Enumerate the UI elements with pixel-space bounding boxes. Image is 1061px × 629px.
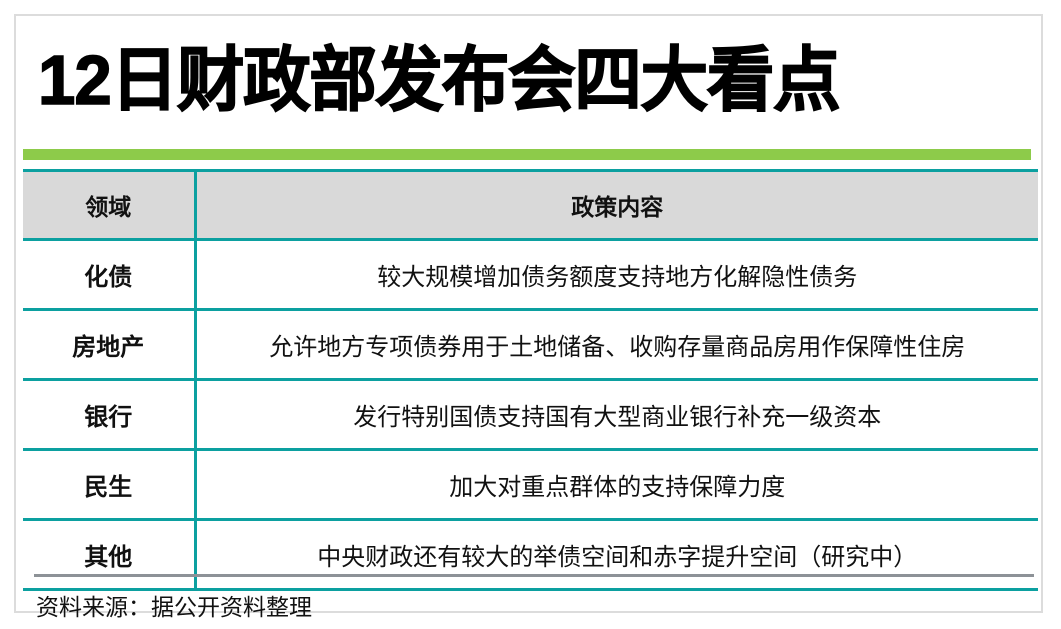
table-row: 银行 发行特别国债支持国有大型商业银行补充一级资本 [23,380,1038,450]
row-field-label: 银行 [23,380,195,450]
row-content-text: 中央财政还有较大的举债空间和赤字提升空间（研究中） [195,520,1038,590]
row-field-label: 民生 [23,450,195,520]
title-area: 12日财政部发布会四大看点 [16,16,1041,143]
page-title: 12日财政部发布会四大看点 [38,45,839,115]
policy-table: 领域 政策内容 化债 较大规模增加债务额度支持地方化解隐性债务 房地产 允许地方… [23,169,1038,591]
column-header-field: 领域 [23,171,195,240]
table-row: 民生 加大对重点群体的支持保障力度 [23,450,1038,520]
table-header-row: 领域 政策内容 [23,171,1038,240]
row-content-text: 允许地方专项债券用于土地储备、收购存量商品房用作保障性住房 [195,310,1038,380]
source-note: 资料来源：据公开资料整理 [36,588,312,622]
row-field-label: 化债 [23,240,195,310]
row-content-text: 发行特别国债支持国有大型商业银行补充一级资本 [195,380,1038,450]
row-content-text: 加大对重点群体的支持保障力度 [195,450,1038,520]
column-header-content: 政策内容 [195,171,1038,240]
footer-divider [34,574,1034,577]
table-row: 化债 较大规模增加债务额度支持地方化解隐性债务 [23,240,1038,310]
table-header: 领域 政策内容 [23,171,1038,240]
green-accent-bar [23,149,1031,160]
table-row: 房地产 允许地方专项债券用于土地储备、收购存量商品房用作保障性住房 [23,310,1038,380]
row-content-text: 较大规模增加债务额度支持地方化解隐性债务 [195,240,1038,310]
row-field-label: 其他 [23,520,195,590]
infographic-card: 12日财政部发布会四大看点 领域 政策内容 化债 较大规模增加债务额度支持地方化… [14,14,1043,613]
table-body: 化债 较大规模增加债务额度支持地方化解隐性债务 房地产 允许地方专项债券用于土地… [23,240,1038,590]
row-field-label: 房地产 [23,310,195,380]
table-row: 其他 中央财政还有较大的举债空间和赤字提升空间（研究中） [23,520,1038,590]
policy-table-wrapper: 领域 政策内容 化债 较大规模增加债务额度支持地方化解隐性债务 房地产 允许地方… [23,169,1038,591]
